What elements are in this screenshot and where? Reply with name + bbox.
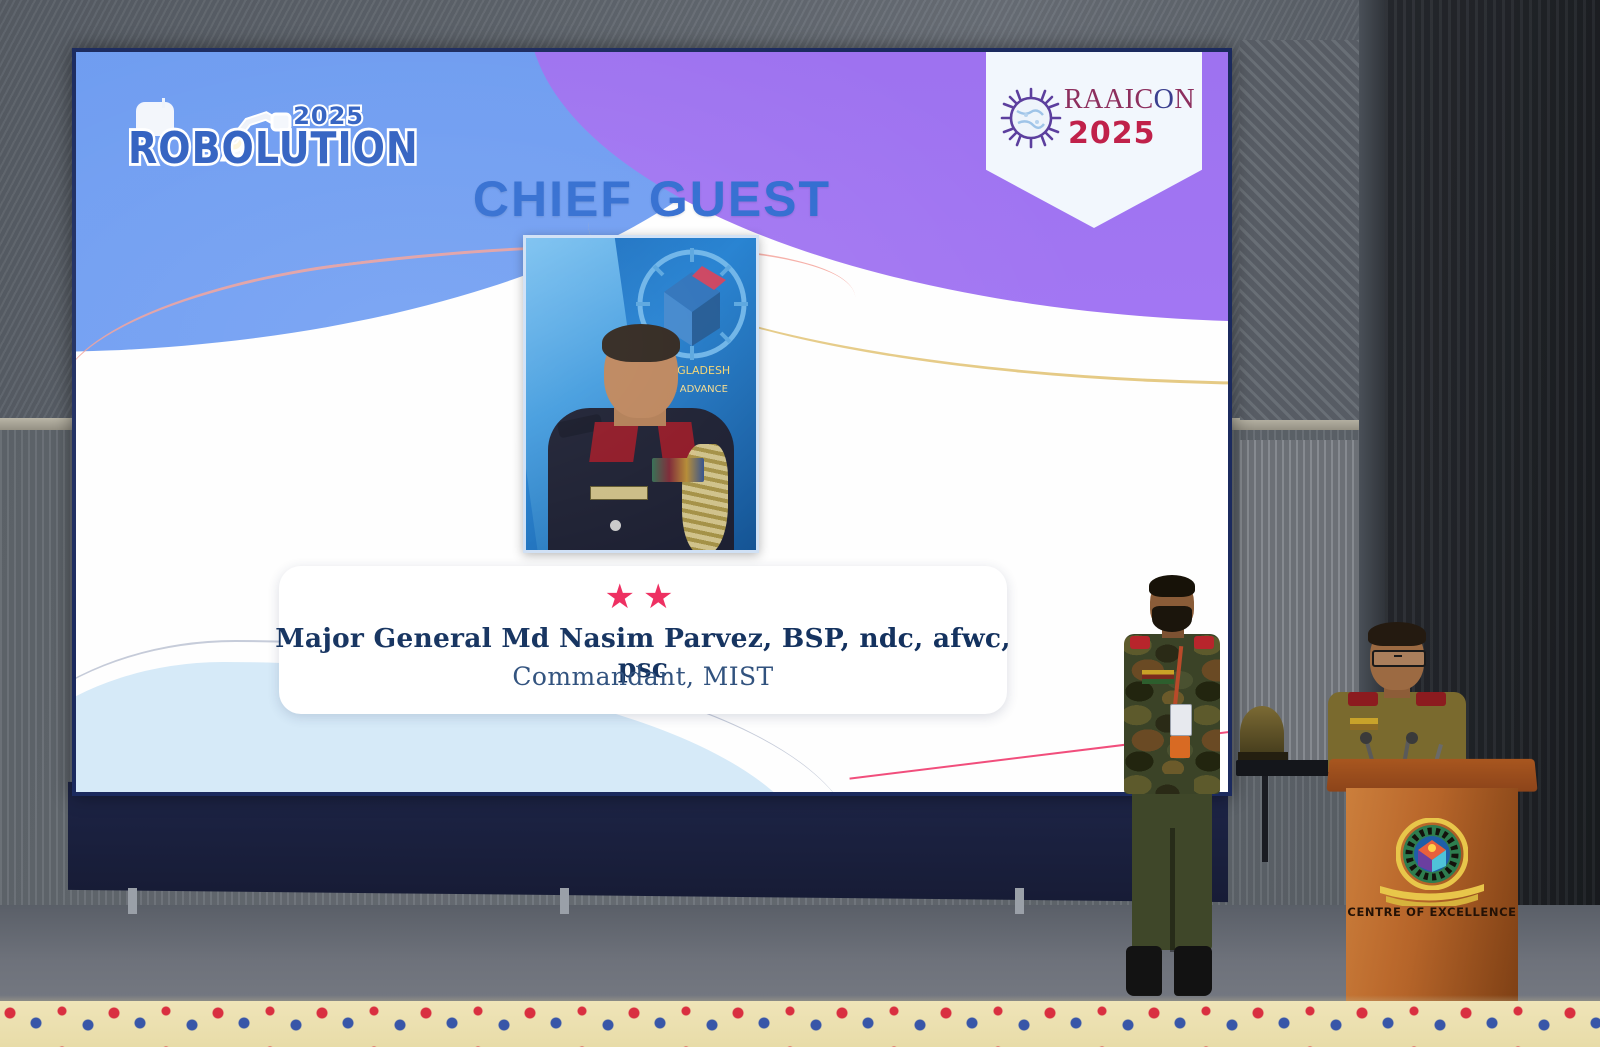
- robolution-wordmark: ROBOLUTION: [128, 123, 419, 174]
- eyeglasses-icon: [1372, 650, 1426, 667]
- microphone-head-2: [1406, 732, 1418, 744]
- portrait-name-tag: [590, 486, 648, 500]
- portrait-rank-patch-left: [589, 422, 639, 462]
- screen-support-leg: [1015, 888, 1024, 914]
- officer-shoulder-tab-right: [1194, 636, 1214, 649]
- screenshot-root: ROBOLUTION 2025: [0, 0, 1600, 1047]
- officer-boot-left: [1126, 946, 1162, 996]
- eyeglasses-bridge-icon: [1394, 655, 1402, 657]
- raaicon-wordmark-part2: O: [1154, 84, 1175, 115]
- officer-id-badge-secondary: [1170, 736, 1190, 758]
- raaicon-wordmark-part1: RAAIC: [1064, 84, 1154, 115]
- officer-shoulder-tab-left: [1130, 636, 1150, 649]
- raaicon-badge-row: RAAICON 2025: [1000, 86, 1195, 149]
- chief-guest-portrait: BANGLADESH FOR ADVANCE: [523, 235, 759, 553]
- standing-officer: [1108, 578, 1234, 1003]
- rank-stars: ★★: [279, 580, 1007, 614]
- patterned-carpet: [0, 1001, 1600, 1047]
- podium-label: CENTRE OF EXCELLENCE: [1346, 905, 1518, 919]
- raaicon-wordmark-part3: N: [1174, 84, 1195, 115]
- microphone-head-1: [1360, 732, 1372, 744]
- side-table-leg: [1262, 776, 1268, 862]
- speaker-ribbon-bar: [1350, 718, 1378, 730]
- speaker-at-podium: [1322, 622, 1472, 772]
- gear-globe-icon: [1000, 87, 1062, 149]
- guest-designation: Commandant, MIST: [279, 662, 1007, 691]
- screen-support-leg: [128, 888, 137, 914]
- screen-base-skirt: [68, 782, 1228, 902]
- carpet-pattern: [0, 1001, 1600, 1047]
- guest-name-card: ★★ Major General Md Nasim Parvez, BSP, n…: [279, 566, 1007, 714]
- slide-title: CHIEF GUEST: [76, 170, 1228, 228]
- crest-ribbon-icon: [1376, 880, 1488, 906]
- portrait-medal-ribbons: [652, 458, 704, 482]
- screen-support-leg: [560, 888, 569, 914]
- speaker-hair: [1368, 622, 1426, 646]
- raaicon-year: 2025: [1068, 119, 1195, 149]
- raaicon-text-block: RAAICON 2025: [1064, 86, 1195, 149]
- officer-hair: [1149, 575, 1195, 597]
- officer-ribbon-bar: [1142, 670, 1174, 684]
- robot-antenna-icon: [162, 98, 165, 108]
- portrait-uniform-button: [610, 520, 621, 531]
- speaker-epaulette-right: [1416, 692, 1446, 706]
- officer-boot-right: [1174, 946, 1212, 996]
- speaker-epaulette-left: [1348, 692, 1378, 706]
- officer-beard: [1152, 606, 1192, 632]
- projection-screen: ROBOLUTION 2025: [72, 48, 1232, 796]
- podium-lectern-top: [1326, 759, 1537, 792]
- portrait-hair: [602, 324, 680, 362]
- officer-leg-shadow: [1170, 828, 1175, 952]
- portrait-figure: [548, 334, 734, 553]
- robolution-logo: ROBOLUTION 2025: [128, 100, 358, 178]
- robolution-year: 2025: [293, 102, 364, 130]
- presentation-slide: ROBOLUTION 2025: [76, 52, 1228, 792]
- officer-id-badge: [1170, 704, 1192, 736]
- raaicon-wordmark: RAAICON: [1064, 86, 1195, 114]
